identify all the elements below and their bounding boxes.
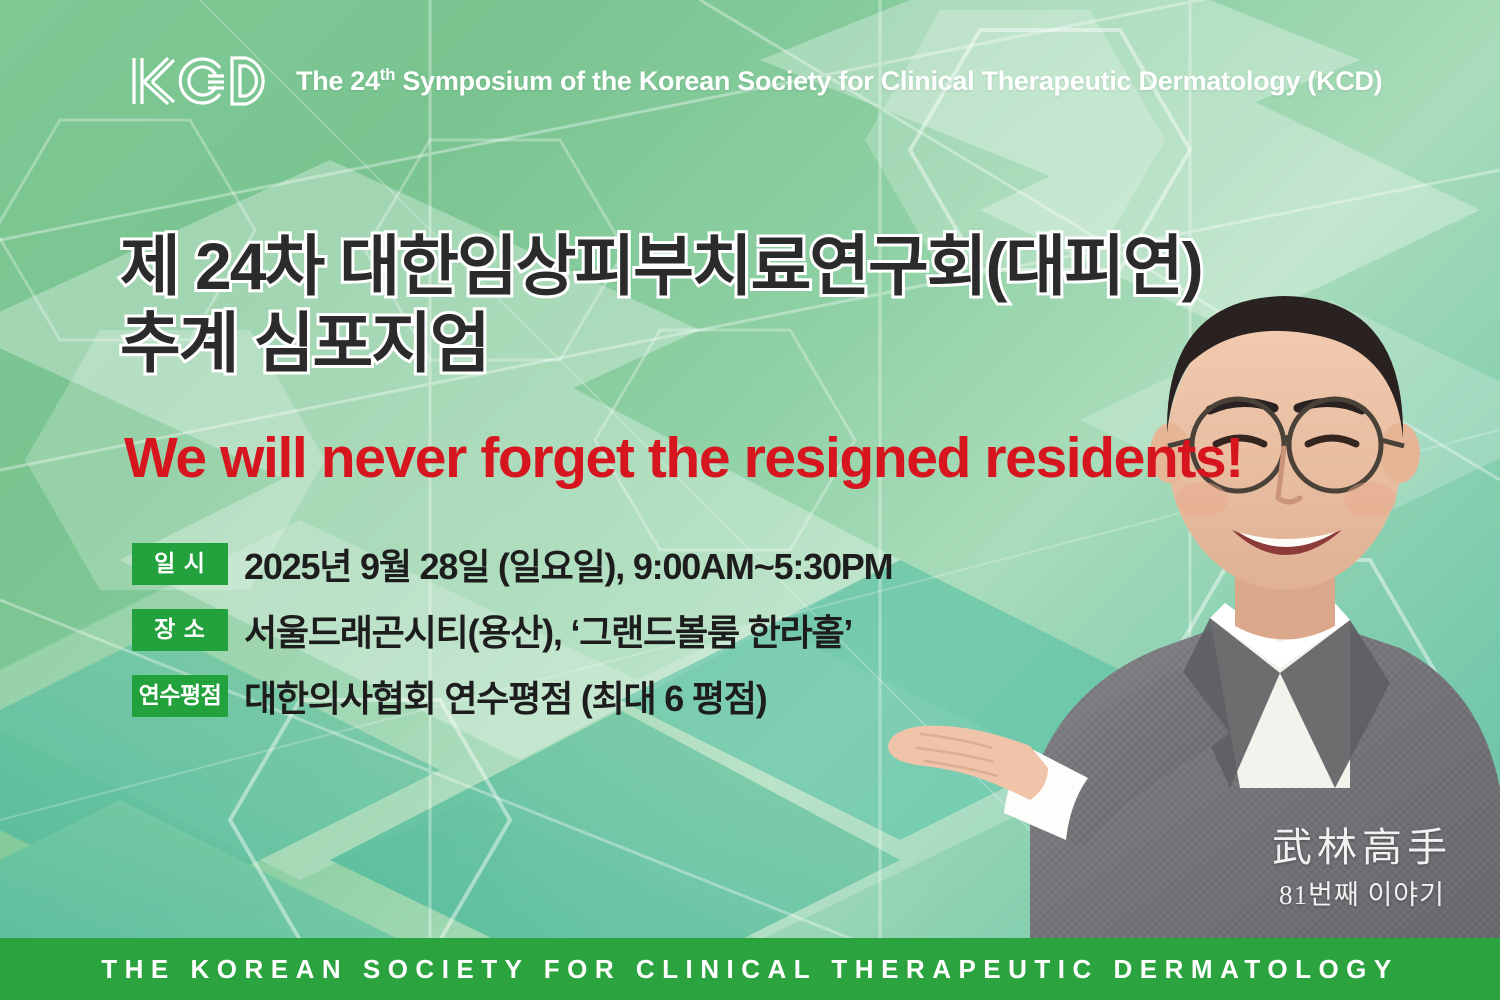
info-value-date: 2025년 9월 28일 (일요일), 9:00AM~5:30PM: [244, 538, 892, 590]
watermark-sub: 81번째 이야기: [1272, 873, 1452, 912]
watermark: 武林高手 81번째 이야기: [1272, 824, 1452, 912]
info-badge-venue: 장 소: [132, 609, 228, 650]
info-row-credits: 연수평점 대한의사협회 연수평점 (최대 6 평점): [132, 670, 892, 722]
info-value-venue: 서울드래곤시티(용산), ‘그랜드볼룸 한라홀’: [244, 604, 852, 656]
poster-root: The 24th Symposium of the Korean Society…: [0, 0, 1500, 1000]
info-badge-credits: 연수평점: [132, 675, 228, 716]
header-title: The 24th Symposium of the Korean Society…: [296, 65, 1382, 97]
info-list: 일 시 2025년 9월 28일 (일요일), 9:00AM~5:30PM 장 …: [132, 538, 892, 722]
footer-bar: THE KOREAN SOCIETY FOR CLINICAL THERAPEU…: [0, 938, 1500, 1000]
info-row-venue: 장 소 서울드래곤시티(용산), ‘그랜드볼룸 한라홀’: [132, 604, 892, 656]
info-row-date: 일 시 2025년 9월 28일 (일요일), 9:00AM~5:30PM: [132, 538, 892, 590]
title-line-2: 추계 심포지엄: [120, 305, 1202, 382]
tagline: We will never forget the resigned reside…: [124, 425, 1243, 491]
header-title-ordinal: th: [380, 65, 395, 84]
header-title-suffix: Symposium of the Korean Society for Clin…: [395, 66, 1382, 96]
header: The 24th Symposium of the Korean Society…: [128, 52, 1382, 110]
info-badge-date: 일 시: [132, 543, 228, 584]
page-title: 제 24차 대한임상피부치료연구회(대피연) 추계 심포지엄: [120, 228, 1202, 381]
title-line-1: 제 24차 대한임상피부치료연구회(대피연): [120, 228, 1202, 305]
watermark-main: 武林高手: [1272, 824, 1452, 871]
footer-text: THE KOREAN SOCIETY FOR CLINICAL THERAPEU…: [101, 954, 1399, 985]
header-title-prefix: The 24: [296, 66, 380, 96]
info-value-credits: 대한의사협회 연수평점 (최대 6 평점): [244, 670, 767, 722]
kcd-logo-icon: [128, 52, 280, 110]
